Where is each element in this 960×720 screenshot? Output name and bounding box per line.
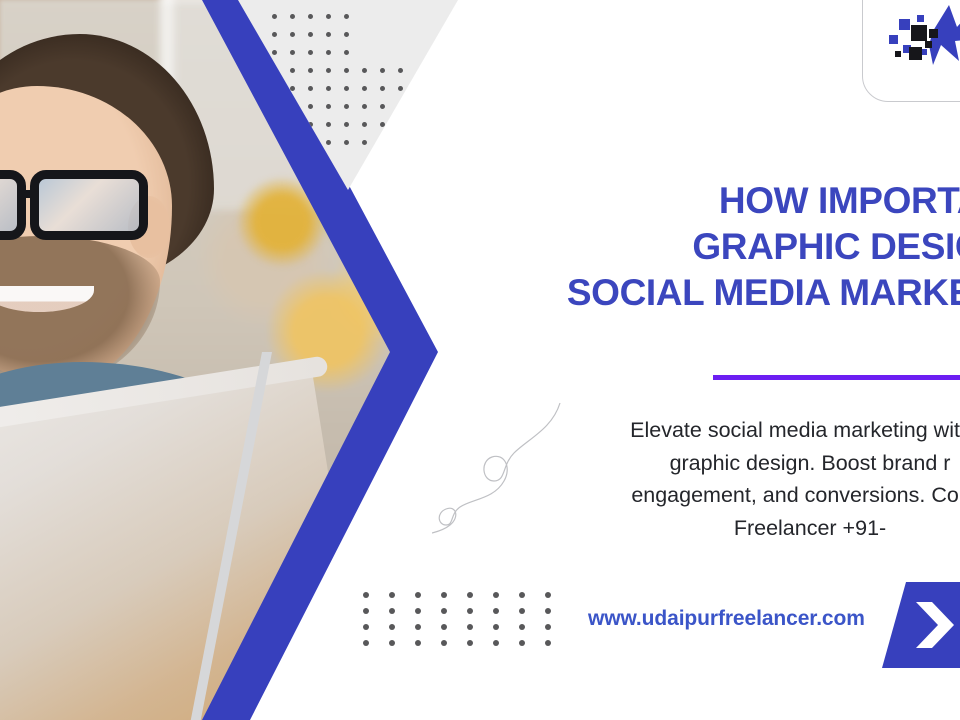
photo-lens-right [30,170,148,240]
body-copy: Elevate social media marketing with p gr… [500,414,960,545]
page-title: HOW IMPORTA GRAPHIC DESIGN SOCIAL MEDIA … [420,178,960,316]
photo-lens-left [0,170,26,240]
poster-canvas: HOW IMPORTA GRAPHIC DESIGN SOCIAL MEDIA … [0,0,960,720]
body-line-4: Freelancer +91- [500,512,960,545]
body-line-3: engagement, and conversions. Conta [500,479,960,512]
pixel-star-logo-icon [887,5,960,75]
chevron-badge [882,582,960,668]
photo-eyeglasses [0,170,176,244]
headline-line-1: HOW IMPORTA [582,178,960,224]
body-line-1: Elevate social media marketing with p [500,414,960,447]
logo-card [862,0,960,102]
chevron-right-icon [916,602,960,648]
dot-grid-icon-bottom [363,592,571,656]
headline-line-2: GRAPHIC DESIGN [582,224,960,270]
body-line-2: graphic design. Boost brand r [500,447,960,480]
purple-divider [713,375,960,380]
headline-line-3: SOCIAL MEDIA MARKET [442,270,960,316]
photo-glasses-bridge [22,190,36,198]
website-url[interactable]: www.udaipurfreelancer.com [588,607,865,631]
